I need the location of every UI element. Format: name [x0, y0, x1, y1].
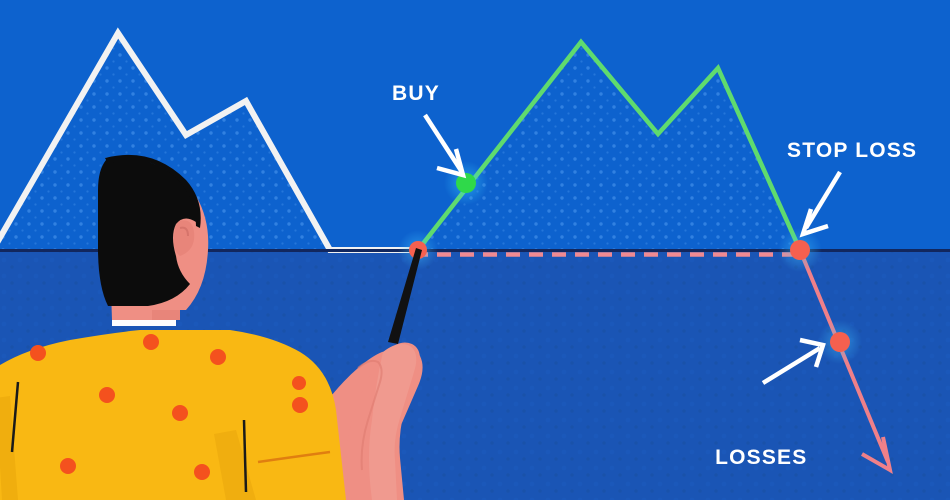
- label-buy: BUY: [392, 82, 440, 107]
- label-losses-avoided-line1: LOSSES: [710, 446, 813, 471]
- marker-stop-loss[interactable]: [790, 240, 810, 260]
- label-stop-loss: STOP LOSS: [787, 139, 917, 164]
- label-losses-avoided: LOSSES AVOIDED: [710, 396, 813, 500]
- illustration-canvas: BUY STOP LOSS LOSSES AVOIDED: [0, 0, 950, 500]
- marker-losses-avoided[interactable]: [830, 332, 850, 352]
